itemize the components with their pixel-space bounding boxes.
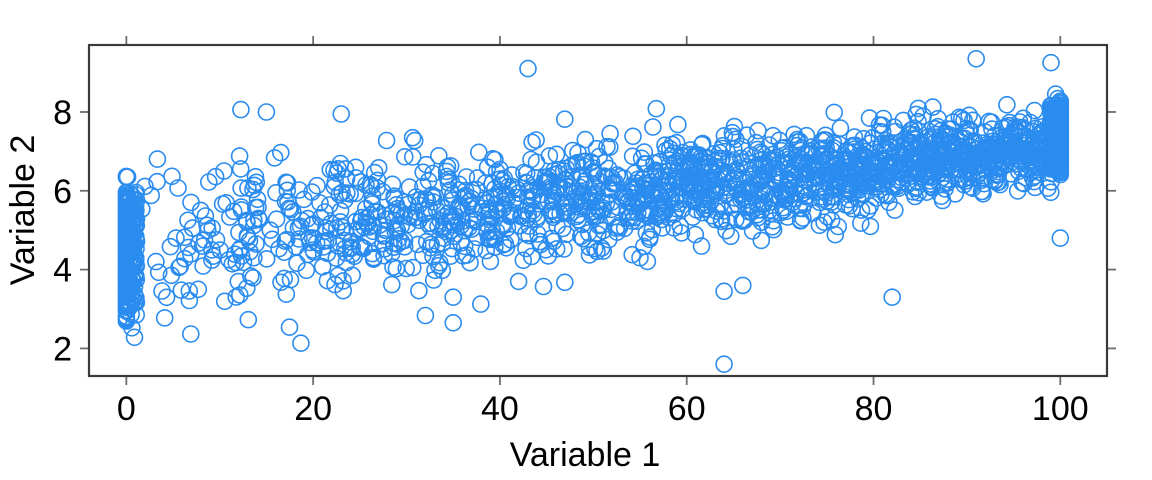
y-tick-label: 4 [53,252,72,290]
plot-canvas: 020406080100 2468 Variable 1 Variable 2 [0,0,1152,480]
x-tick-label: 20 [294,390,332,428]
x-tick-label: 80 [855,390,893,428]
scatter-plot-figure: 020406080100 2468 Variable 1 Variable 2 [0,0,1152,480]
y-tick-label: 2 [53,330,72,368]
y-tick-label: 6 [53,173,72,211]
y-tick-label: 8 [53,94,72,132]
x-tick-label: 40 [481,390,519,428]
x-tick-label: 0 [117,390,136,428]
x-axis-title: Variable 1 [510,436,661,474]
figure-background [0,0,1152,480]
x-tick-label: 100 [1032,390,1089,428]
x-tick-label: 60 [668,390,706,428]
y-axis-title: Variable 2 [4,135,42,286]
